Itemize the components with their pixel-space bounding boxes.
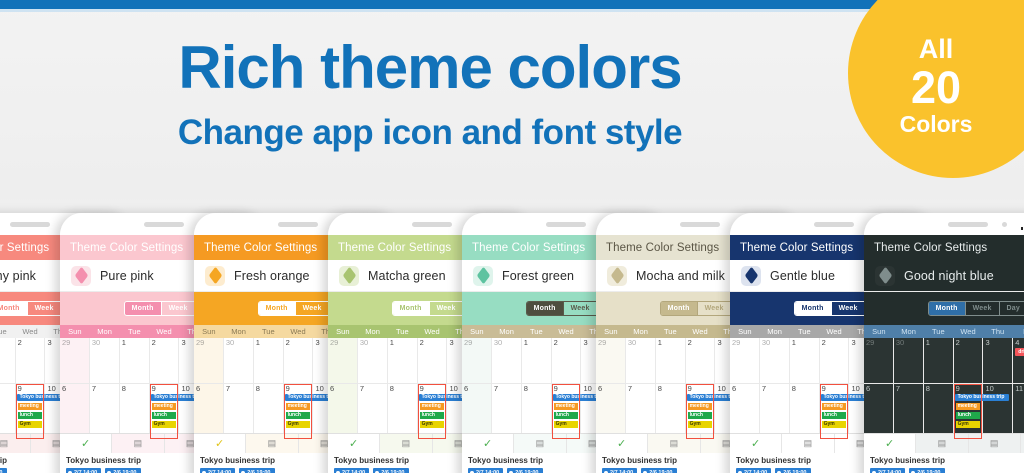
- calendar-day-cell[interactable]: 9Tokyo business tripmeetinglunchGym: [954, 384, 984, 440]
- phone-mockup-row: Theme Color SettingsHealthy pinkMonthWee…: [0, 205, 1024, 473]
- weekday-sun: Sun: [60, 328, 90, 336]
- page-title: Rich theme colors: [0, 36, 860, 99]
- weekday-tue: Tue: [521, 328, 551, 336]
- all-colors-badge-text: All 20 Colors: [848, 0, 1024, 178]
- detail-chip-label: 2/6 19:00: [381, 470, 404, 473]
- day-number: 30: [90, 338, 119, 347]
- day-number: 30: [224, 338, 253, 347]
- weekday-tue: Tue: [387, 328, 417, 336]
- calendar-day-cell[interactable]: 7: [224, 384, 254, 440]
- calendar-day-cell[interactable]: 6: [730, 384, 760, 440]
- event-meeting[interactable]: meeting: [554, 403, 579, 410]
- detail-chip-label: 2/7 14:00: [878, 470, 901, 473]
- detail-chip-1[interactable]: 2/7 14:00: [468, 468, 503, 473]
- weekday-mon: Mon: [90, 328, 120, 336]
- app-title-bar: Theme Color Settings: [864, 235, 1024, 260]
- detail-chip-2[interactable]: 2/6 19:00: [507, 468, 542, 473]
- calendar-day-cell[interactable]: 29: [596, 338, 626, 384]
- calendar-day-cell[interactable]: 8: [790, 384, 820, 440]
- detail-chip-2[interactable]: 2/6 19:00: [105, 468, 140, 473]
- day-number: 2: [686, 338, 715, 347]
- event-gym[interactable]: Gym: [152, 421, 177, 428]
- calendar-day-cell[interactable]: 6: [462, 384, 492, 440]
- calendar-day-cell[interactable]: 6: [864, 384, 894, 440]
- day-number: 9: [954, 384, 983, 393]
- calendar-week-row: 6789Tokyo business tripmeetinglunchGym10…: [864, 384, 1024, 440]
- event-gym[interactable]: Gym: [420, 421, 445, 428]
- day-number: 9: [552, 384, 581, 393]
- weekday-wed: Wed: [149, 328, 179, 336]
- weekday-sun: Sun: [328, 328, 358, 336]
- segment-week[interactable]: Week: [27, 302, 61, 315]
- calendar-day-cell[interactable]: 2: [418, 338, 448, 384]
- weekday-sun: Sun: [462, 328, 492, 336]
- weekday-sun: Sun: [596, 328, 626, 336]
- calendar-day-cell[interactable]: 29: [730, 338, 760, 384]
- save-icon: ▤: [990, 438, 999, 449]
- diamond-icon: [878, 267, 891, 285]
- calendar-day-cell[interactable]: 8: [924, 384, 954, 440]
- segment-week[interactable]: Week: [697, 302, 731, 315]
- event-lunch[interactable]: lunch: [420, 412, 445, 419]
- calendar-day-cell[interactable]: 9Tokyo business tripmeetinglunchGym: [418, 384, 448, 440]
- app-icon-preview: [339, 266, 359, 286]
- check-icon: ✓: [215, 437, 224, 450]
- event-meeting[interactable]: meeting: [688, 403, 713, 410]
- calendar-day-cell[interactable]: 30: [224, 338, 254, 384]
- calendar-day-cell[interactable]: 1: [0, 338, 16, 384]
- calendar-day-cell[interactable]: 2: [16, 338, 46, 384]
- day-number: 1: [388, 338, 417, 347]
- event-drinking[interactable]: drinking: [1015, 348, 1024, 356]
- tab-check-icon[interactable]: ✓: [864, 434, 916, 453]
- weekday-wed: Wed: [819, 328, 849, 336]
- segment-month[interactable]: Month: [0, 302, 27, 315]
- app-title-text: Theme Color Settings: [70, 242, 183, 254]
- calendar-day-cell[interactable]: 8: [254, 384, 284, 440]
- day-number: 30: [626, 338, 655, 347]
- event-meeting[interactable]: meeting: [152, 403, 177, 410]
- event-lunch[interactable]: lunch: [822, 412, 847, 419]
- note-icon: ▤: [670, 438, 679, 449]
- weekday-header: SunMonTueWedThuFriSat: [864, 325, 1024, 338]
- tab-save-icon[interactable]: ▤: [969, 434, 1021, 453]
- event-gym[interactable]: Gym: [688, 421, 713, 428]
- detail-chip-label: 2/7 14:00: [342, 470, 365, 473]
- calendar-day-cell[interactable]: 29: [194, 338, 224, 384]
- weekday-sun: Sun: [864, 328, 894, 336]
- diamond-icon: [610, 267, 623, 285]
- day-number: 7: [894, 384, 923, 393]
- weekday-tue: Tue: [0, 328, 15, 336]
- speaker-nub-icon: [144, 222, 184, 227]
- note-icon: ▤: [804, 438, 813, 449]
- detail-chip-1[interactable]: 2/7 14:00: [66, 468, 101, 473]
- day-number: 7: [90, 384, 119, 393]
- calendar-day-cell[interactable]: 1: [120, 338, 150, 384]
- phone-status-bar: [864, 213, 1024, 235]
- event-detail-title: Tokyo business trip: [870, 456, 1024, 466]
- speaker-nub-icon: [948, 222, 988, 227]
- calendar-day-cell[interactable]: 4drinking: [1013, 338, 1024, 384]
- detail-chip-label: 2/6 19:00: [247, 470, 270, 473]
- detail-chip-label: 2/7 14:00: [74, 470, 97, 473]
- calendar-day-cell[interactable]: 1: [522, 338, 552, 384]
- event-lunch[interactable]: lunch: [554, 412, 579, 419]
- note-icon: ▤: [134, 438, 143, 449]
- calendar-day-cell[interactable]: 9Tokyo business tripmeetinglunchGym: [686, 384, 716, 440]
- segment-month[interactable]: Month: [929, 302, 965, 315]
- detail-chip-1[interactable]: 2/7 14:00: [736, 468, 771, 473]
- weekday-sun: Sun: [730, 328, 760, 336]
- calendar-day-cell[interactable]: 3: [983, 338, 1013, 384]
- day-number: 30: [492, 338, 521, 347]
- calendar-day-cell[interactable]: 9Tokyo business tripmeetinglunchGym: [150, 384, 180, 440]
- calendar-day-cell[interactable]: 30: [358, 338, 388, 384]
- weekday-mon: Mon: [626, 328, 656, 336]
- day-number: 6: [328, 384, 357, 393]
- detail-chip-label: 2/6 19:00: [113, 470, 136, 473]
- detail-chip-1[interactable]: 2/7 14:00: [200, 468, 235, 473]
- calendar-day-cell[interactable]: 2: [150, 338, 180, 384]
- calendar-day-cell[interactable]: 7: [626, 384, 656, 440]
- theme-name-label: Fresh orange: [234, 269, 310, 283]
- event-gym[interactable]: Gym: [18, 421, 43, 428]
- calendar-day-cell[interactable]: 30: [626, 338, 656, 384]
- detail-chip-2[interactable]: 2/6 19:00: [373, 468, 408, 473]
- event-meeting[interactable]: meeting: [956, 403, 981, 410]
- detail-chip-2[interactable]: 2/6 19:00: [641, 468, 676, 473]
- segment-month[interactable]: Month: [795, 302, 831, 315]
- day-number: 9: [284, 384, 313, 393]
- detail-chip-2[interactable]: 2/6 19:00: [0, 468, 7, 473]
- app-title-text: Theme Color Settings: [606, 242, 719, 254]
- app-icon-preview: [71, 266, 91, 286]
- app-title-text: Theme Color Settings: [338, 242, 451, 254]
- theme-selection-row[interactable]: Good night blue: [864, 260, 1024, 292]
- app-title-text: Theme Color Settings: [472, 242, 585, 254]
- weekday-thu: Thu: [983, 328, 1013, 336]
- calendar-day-cell[interactable]: 9Tokyo business tripmeetinglunchGym: [820, 384, 850, 440]
- calendar-day-cell[interactable]: 6: [60, 384, 90, 440]
- detail-chip-label: 2/7 14:00: [208, 470, 231, 473]
- calendar-day-cell[interactable]: 29: [462, 338, 492, 384]
- calendar-day-cell[interactable]: 1: [254, 338, 284, 384]
- day-number: 9: [686, 384, 715, 393]
- app-title-text: Theme Color Settings: [0, 242, 49, 254]
- day-number: 8: [790, 384, 819, 393]
- app-icon-preview: [741, 266, 761, 286]
- calendar-day-cell[interactable]: 6: [194, 384, 224, 440]
- calendar-day-cell[interactable]: 8: [388, 384, 418, 440]
- calendar-day-cell[interactable]: 2: [284, 338, 314, 384]
- event-lunch[interactable]: lunch: [956, 412, 981, 419]
- day-number: 29: [596, 338, 625, 347]
- tab-check-icon[interactable]: ✓: [596, 434, 648, 453]
- event-trip[interactable]: Tokyo business trip: [955, 394, 1009, 401]
- calendar-day-cell[interactable]: 7: [358, 384, 388, 440]
- day-number: 2: [150, 338, 179, 347]
- day-number: 1: [656, 338, 685, 347]
- segment-week[interactable]: Week: [965, 302, 999, 315]
- tab-note-icon[interactable]: ▤: [380, 434, 432, 453]
- day-number: 2: [16, 338, 45, 347]
- app-icon-preview: [607, 266, 627, 286]
- tab-check-icon[interactable]: ✓: [328, 434, 380, 453]
- badge-line-colors: Colors: [900, 112, 973, 136]
- day-number: 8: [120, 384, 149, 393]
- day-number: 8: [254, 384, 283, 393]
- calendar-day-cell[interactable]: 8: [522, 384, 552, 440]
- diamond-icon: [74, 267, 87, 285]
- tab-check-icon[interactable]: ✓: [462, 434, 514, 453]
- calendar-day-cell[interactable]: 10: [983, 384, 1013, 440]
- day-number: 11: [1013, 384, 1024, 393]
- tab-note-icon[interactable]: ▤: [514, 434, 566, 453]
- detail-chip-label: 2/6 19:00: [515, 470, 538, 473]
- event-gym[interactable]: Gym: [822, 421, 847, 428]
- segment-month[interactable]: Month: [259, 302, 295, 315]
- day-number: 7: [224, 384, 253, 393]
- calendar-day-cell[interactable]: 2: [686, 338, 716, 384]
- calendar-day-cell[interactable]: 8: [656, 384, 686, 440]
- day-number: 6: [864, 384, 893, 393]
- calendar-day-cell[interactable]: 29: [60, 338, 90, 384]
- detail-chip-1[interactable]: 2/7 14:00: [602, 468, 637, 473]
- segment-day[interactable]: Day: [999, 302, 1024, 315]
- calendar-day-cell[interactable]: 6: [328, 384, 358, 440]
- weekday-tue: Tue: [119, 328, 149, 336]
- detail-chip-2[interactable]: 2/6 19:00: [775, 468, 810, 473]
- calendar-day-cell[interactable]: 2: [820, 338, 850, 384]
- app-icon-preview: [875, 266, 895, 286]
- day-number: 2: [418, 338, 447, 347]
- tab-note-icon[interactable]: ▤: [648, 434, 700, 453]
- segment-week[interactable]: Week: [429, 302, 463, 315]
- calendar-day-cell[interactable]: 6: [596, 384, 626, 440]
- day-number: 1: [254, 338, 283, 347]
- event-meeting[interactable]: meeting: [18, 403, 43, 410]
- day-number: 7: [358, 384, 387, 393]
- day-number: 29: [462, 338, 491, 347]
- weekday-sun: Sun: [194, 328, 224, 336]
- tab-check-icon[interactable]: ✓: [730, 434, 782, 453]
- tab-note-icon[interactable]: ▤: [112, 434, 164, 453]
- day-number: 6: [462, 384, 491, 393]
- calendar-day-cell[interactable]: 1: [924, 338, 954, 384]
- detail-chip-1[interactable]: 2/7 14:00: [870, 468, 905, 473]
- calendar-day-cell[interactable]: 7: [90, 384, 120, 440]
- headline-block: Rich theme colors Change app icon and fo…: [0, 36, 860, 153]
- weekday-tue: Tue: [923, 328, 953, 336]
- day-number: 8: [924, 384, 953, 393]
- weekday-wed: Wed: [685, 328, 715, 336]
- detail-chip-label: 2/6 19:00: [783, 470, 806, 473]
- calendar-day-cell[interactable]: 30: [90, 338, 120, 384]
- event-lunch[interactable]: lunch: [18, 412, 43, 419]
- badge-line-count: 20: [911, 64, 961, 111]
- day-number: 30: [894, 338, 923, 347]
- event-meeting[interactable]: meeting: [286, 403, 311, 410]
- weekday-mon: Mon: [358, 328, 388, 336]
- speaker-nub-icon: [10, 222, 50, 227]
- diamond-icon: [342, 267, 355, 285]
- calendar-toolbar: MonthWeekDayToday: [864, 292, 1024, 325]
- segment-week[interactable]: Week: [161, 302, 195, 315]
- day-number: 29: [730, 338, 759, 347]
- theme-name-label: Pure pink: [100, 269, 154, 283]
- calendar-day-cell[interactable]: 2: [552, 338, 582, 384]
- note-icon: ▤: [536, 438, 545, 449]
- day-number: 7: [492, 384, 521, 393]
- day-number: 9: [820, 384, 849, 393]
- weekday-wed: Wed: [417, 328, 447, 336]
- day-number: 9: [150, 384, 179, 393]
- calendar-day-cell[interactable]: 1: [656, 338, 686, 384]
- segment-week[interactable]: Week: [563, 302, 597, 315]
- calendar-day-cell[interactable]: 30: [492, 338, 522, 384]
- tab-check-icon[interactable]: ✓: [60, 434, 112, 453]
- weekday-wed: Wed: [551, 328, 581, 336]
- detail-chip-label: 2/7 14:00: [610, 470, 633, 473]
- weekday-mon: Mon: [492, 328, 522, 336]
- speaker-nub-icon: [278, 222, 318, 227]
- weekday-tue: Tue: [253, 328, 283, 336]
- day-number: 6: [730, 384, 759, 393]
- day-number: 7: [626, 384, 655, 393]
- day-number: 3: [983, 338, 1012, 347]
- bottom-tab-bar: ✓▤▤✕: [864, 433, 1024, 453]
- check-icon: ✓: [81, 437, 90, 450]
- calendar-day-cell[interactable]: 1: [790, 338, 820, 384]
- day-number: 29: [194, 338, 223, 347]
- calendar-day-cell[interactable]: 7: [492, 384, 522, 440]
- calendar-day-cell[interactable]: 7: [760, 384, 790, 440]
- event-lunch[interactable]: lunch: [152, 412, 177, 419]
- note-icon: ▤: [402, 438, 411, 449]
- weekday-mon: Mon: [894, 328, 924, 336]
- note-icon: ▤: [938, 438, 947, 449]
- calendar-day-cell[interactable]: 7: [894, 384, 924, 440]
- event-gym[interactable]: Gym: [554, 421, 579, 428]
- app-title-text: Theme Color Settings: [874, 242, 987, 254]
- check-icon: ✓: [885, 437, 894, 450]
- weekday-tue: Tue: [789, 328, 819, 336]
- weekday-wed: Wed: [953, 328, 983, 336]
- segment-month[interactable]: Month: [527, 302, 563, 315]
- day-number: 4: [1013, 338, 1024, 347]
- segment-week[interactable]: Week: [831, 302, 865, 315]
- calendar-day-cell[interactable]: 9Tokyo business tripmeetinglunchGym: [284, 384, 314, 440]
- day-number: 8: [656, 384, 685, 393]
- theme-name-label: Matcha green: [368, 269, 446, 283]
- calendar-week-row: 29301234drinking5: [864, 338, 1024, 384]
- event-lunch[interactable]: lunch: [286, 412, 311, 419]
- calendar-day-cell[interactable]: 2: [954, 338, 984, 384]
- speaker-nub-icon: [814, 222, 854, 227]
- calendar-day-cell[interactable]: 9Tokyo business tripmeetinglunchGym: [552, 384, 582, 440]
- day-number: 2: [284, 338, 313, 347]
- weekday-mon: Mon: [224, 328, 254, 336]
- theme-name-label: Good night blue: [904, 269, 994, 283]
- segment-month[interactable]: Month: [393, 302, 429, 315]
- event-lunch[interactable]: lunch: [688, 412, 713, 419]
- day-number: 2: [820, 338, 849, 347]
- tab-note-icon[interactable]: ▤: [782, 434, 834, 453]
- calendar-day-cell[interactable]: 8: [0, 384, 16, 440]
- speaker-nub-icon: [412, 222, 452, 227]
- calendar-day-cell[interactable]: 9Tokyo business tripmeetinglunchGym: [16, 384, 46, 440]
- segment-week[interactable]: Week: [295, 302, 329, 315]
- day-number: 6: [60, 384, 89, 393]
- calendar-day-cell[interactable]: 8: [120, 384, 150, 440]
- theme-name-label: Mocha and milk: [636, 269, 725, 283]
- theme-name-label: Healthy pink: [0, 269, 36, 283]
- check-icon: ✓: [617, 437, 626, 450]
- tab-check-icon[interactable]: ✓: [194, 434, 246, 453]
- detail-chip-2[interactable]: 2/6 19:00: [909, 468, 944, 473]
- calendar-day-cell[interactable]: 29: [328, 338, 358, 384]
- weekday-tue: Tue: [655, 328, 685, 336]
- event-gym[interactable]: Gym: [956, 421, 981, 428]
- detail-chip-2[interactable]: 2/6 19:00: [239, 468, 274, 473]
- tab-note-icon[interactable]: ▤: [0, 434, 31, 453]
- detail-chip-label: 2/6 19:00: [917, 470, 940, 473]
- tab-note-icon[interactable]: ▤: [246, 434, 298, 453]
- event-detail-panel: Tokyo business trip2/7 14:002/6 19:00: [864, 453, 1024, 473]
- page-subtitle: Change app icon and font style: [0, 113, 860, 153]
- diamond-icon: [476, 267, 489, 285]
- event-meeting[interactable]: meeting: [822, 403, 847, 410]
- calendar-day-cell[interactable]: 30: [894, 338, 924, 384]
- detail-chip-1[interactable]: 2/7 14:00: [334, 468, 369, 473]
- view-segmented-control[interactable]: MonthWeekDay: [928, 301, 1024, 316]
- speaker-nub-icon: [546, 222, 586, 227]
- theme-name-label: Forest green: [502, 269, 574, 283]
- speaker-nub-icon: [680, 222, 720, 227]
- camera-dot-icon: [1002, 222, 1007, 227]
- note-icon: ▤: [0, 438, 8, 449]
- weekday-fri: Fri: [1013, 328, 1024, 336]
- diamond-icon: [744, 267, 757, 285]
- day-number: 9: [16, 384, 45, 393]
- event-gym[interactable]: Gym: [286, 421, 311, 428]
- day-number: 30: [358, 338, 387, 347]
- segment-month[interactable]: Month: [661, 302, 697, 315]
- day-number: 30: [760, 338, 789, 347]
- day-number: 6: [596, 384, 625, 393]
- calendar-day-cell[interactable]: 11: [1013, 384, 1024, 440]
- diamond-icon: [208, 267, 221, 285]
- event-meeting[interactable]: meeting: [420, 403, 445, 410]
- tab-note-icon[interactable]: ▤: [916, 434, 968, 453]
- calendar-day-cell[interactable]: 29: [864, 338, 894, 384]
- segment-month[interactable]: Month: [125, 302, 161, 315]
- day-number: 29: [60, 338, 89, 347]
- weekday-wed: Wed: [15, 328, 45, 336]
- day-number: 7: [760, 384, 789, 393]
- note-icon: ▤: [268, 438, 277, 449]
- detail-chip-label: 2/7 14:00: [744, 470, 767, 473]
- day-number: 1: [120, 338, 149, 347]
- calendar-day-cell[interactable]: 1: [388, 338, 418, 384]
- check-icon: ✓: [349, 437, 358, 450]
- theme-name-label: Gentle blue: [770, 269, 835, 283]
- day-number: 1: [790, 338, 819, 347]
- weekday-wed: Wed: [283, 328, 313, 336]
- calendar-day-cell[interactable]: 30: [760, 338, 790, 384]
- phone-mockup-8: Theme Color SettingsGood night blueMonth…: [864, 213, 1024, 473]
